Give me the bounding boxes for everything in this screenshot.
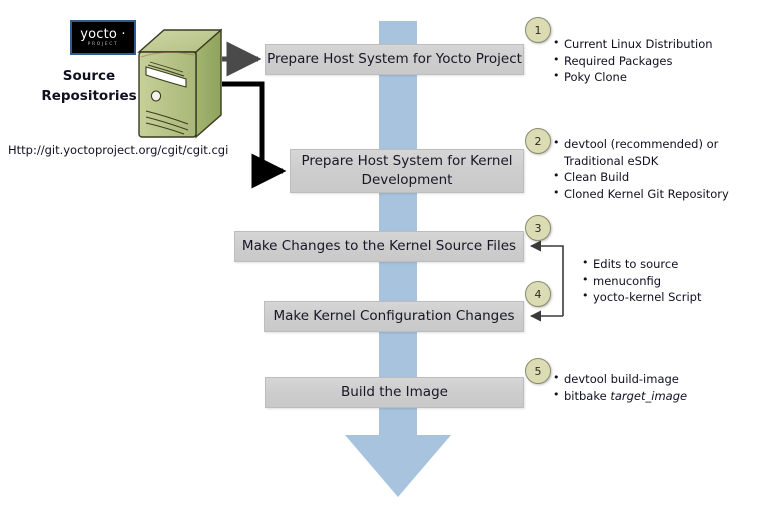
list-item: devtool build-image [553, 371, 733, 388]
list-item: Required Packages [553, 53, 753, 70]
list-item: Edits to source [582, 256, 752, 273]
list-item: devtool (recommended) orTraditional eSDK [553, 136, 731, 169]
step-number-badge-4: 4 [525, 281, 551, 307]
process-box-step4[interactable]: Make Kernel Configuration Changes [264, 301, 524, 332]
list-item: Poky Clone [553, 69, 753, 86]
diagram-canvas: yocto · PROJECT Source Repositories Http… [0, 0, 769, 517]
process-box-step5[interactable]: Build the Image [265, 377, 524, 408]
bullet-list-step2: devtool (recommended) orTraditional eSDK… [553, 136, 731, 202]
bullet-list-step5: devtool build-image bitbake target_image [553, 371, 733, 404]
bitbake-command-prefix: bitbake [564, 389, 610, 403]
process-box-step2[interactable]: Prepare Host System for Kernel Developme… [290, 149, 524, 193]
process-box-step3[interactable]: Make Changes to the Kernel Source Files [234, 231, 524, 262]
list-item: menuconfig [582, 273, 752, 290]
bullet-list-step1: Current Linux Distribution Required Pack… [553, 36, 753, 86]
list-item-line1: devtool (recommended) or [564, 137, 718, 151]
bitbake-target-placeholder: target_image [610, 389, 687, 403]
list-item: yocto-kernel Script [582, 289, 752, 306]
process-box-step1[interactable]: Prepare Host System for Yocto Project [265, 44, 524, 75]
list-item: Clean Build [553, 169, 731, 186]
step-number-badge-2: 2 [525, 128, 551, 154]
connector-server-to-step2 [222, 84, 283, 171]
list-item: Current Linux Distribution [553, 36, 753, 53]
list-item-line2: Traditional eSDK [564, 154, 658, 168]
step-number-badge-5: 5 [525, 358, 551, 384]
list-item: Cloned Kernel Git Repository [553, 186, 731, 203]
bullet-list-loop: Edits to source menuconfig yocto-kernel … [582, 256, 752, 306]
step-number-badge-3: 3 [525, 215, 551, 241]
step-number-badge-1: 1 [525, 17, 551, 43]
list-item: bitbake target_image [553, 388, 733, 405]
